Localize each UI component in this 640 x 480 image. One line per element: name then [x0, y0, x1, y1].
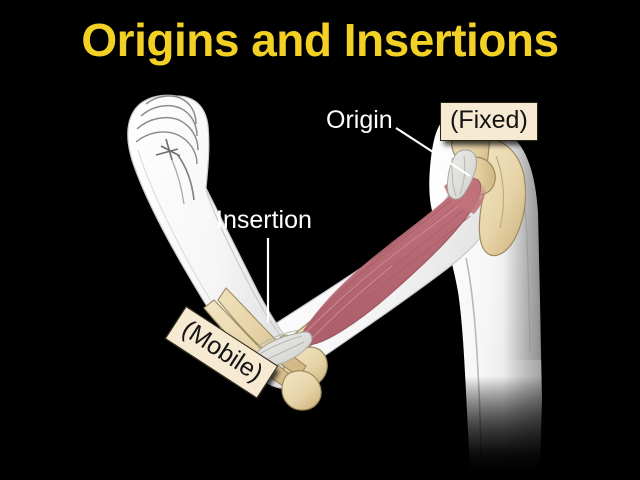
label-leader-lines: [0, 0, 640, 480]
origin-label: Origin: [326, 108, 393, 133]
fixed-callout: (Fixed): [440, 102, 538, 141]
slide-canvas: Origins and Insertions: [0, 0, 640, 480]
insertion-label: Insertion: [216, 208, 312, 233]
